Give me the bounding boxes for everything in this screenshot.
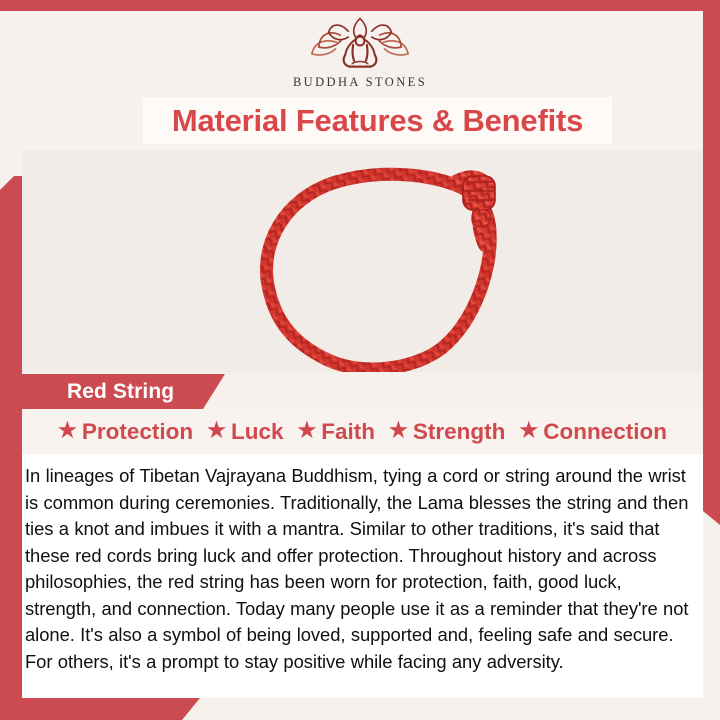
keyword-luck: ★ Luck [207,419,283,445]
keyword-connection: ★ Connection [519,419,667,445]
benefit-keywords: ★ Protection ★ Luck ★ Faith ★ Strength ★… [22,409,703,454]
keyword-label: Strength [413,419,506,445]
keyword-label: Protection [82,419,193,445]
product-image [22,150,703,372]
star-icon: ★ [207,420,226,441]
top-border-bar [0,0,720,11]
brand-logo: BUDDHA STONES [0,14,720,96]
description-panel: In lineages of Tibetan Vajrayana Buddhis… [22,454,703,698]
red-string-bracelet-illustration [22,150,703,372]
infographic-page: BUDDHA STONES Material Features & Benefi… [0,0,720,720]
product-name-label: Red String [67,381,174,402]
brand-name: BUDDHA STONES [293,75,427,90]
keyword-label: Faith [321,419,375,445]
lotus-meditation-icon [301,14,419,74]
keyword-label: Connection [543,419,667,445]
star-icon: ★ [389,420,408,441]
keyword-faith: ★ Faith [297,419,375,445]
description-text: In lineages of Tibetan Vajrayana Buddhis… [25,463,693,675]
keyword-protection: ★ Protection [58,419,193,445]
keyword-label: Luck [231,419,284,445]
bottom-accent-bar [0,698,200,720]
page-title-band: Material Features & Benefits [143,97,612,144]
star-icon: ★ [58,420,77,441]
right-accent-bar [703,150,720,525]
star-icon: ★ [297,420,316,441]
star-icon: ★ [519,420,538,441]
page-title: Material Features & Benefits [172,105,583,136]
keyword-strength: ★ Strength [389,419,505,445]
left-accent-bar [0,176,22,704]
product-name-tag: Red String [22,374,225,409]
